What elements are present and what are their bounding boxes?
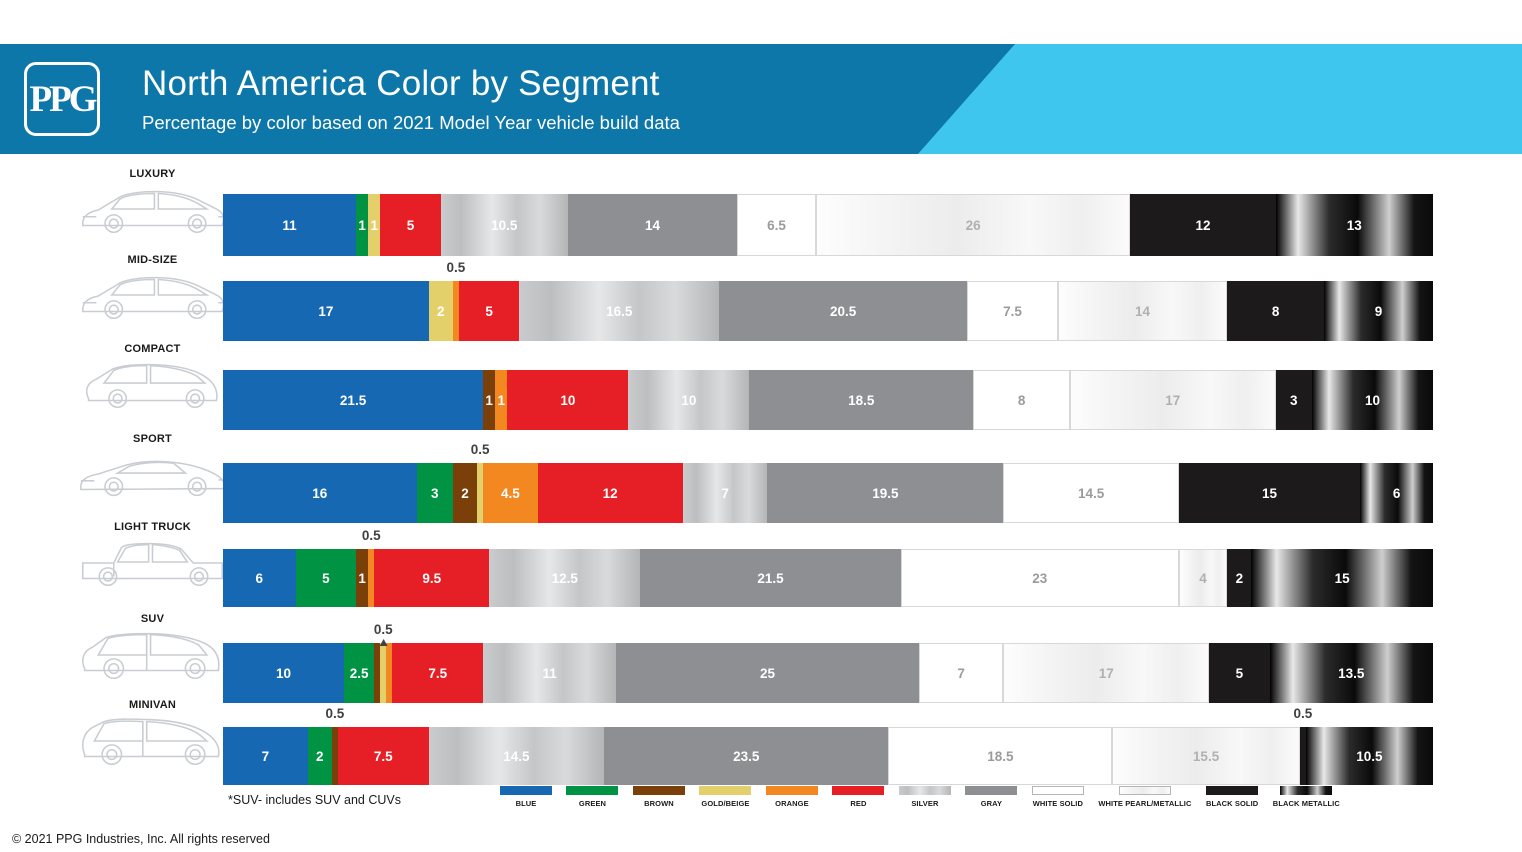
legend-label: ORANGE: [775, 799, 809, 808]
header-banner: PPG North America Color by Segment Perce…: [0, 44, 1522, 154]
bar-segment-silver[interactable]: 14.5: [429, 727, 604, 785]
legend-label: SILVER: [911, 799, 938, 808]
segment-value: 18.5: [848, 393, 874, 408]
legend-swatch-bmet: [1280, 786, 1332, 795]
segment-value: 3: [1290, 393, 1298, 408]
row-label-sport: SPORT: [60, 433, 245, 445]
bar-segment-blue[interactable]: 17: [223, 281, 429, 341]
segment-value: 5: [407, 218, 415, 233]
bar-segment-green[interactable]: 2.5: [344, 643, 374, 703]
segment-value: 15: [1335, 571, 1350, 586]
segment-value: 26: [966, 218, 981, 233]
ppg-logo-text: PPG: [30, 78, 95, 121]
bar-segment-white[interactable]: 7.5: [967, 281, 1058, 341]
bar-segment-blue[interactable]: 21.5: [223, 370, 483, 430]
segment-value: 8: [1272, 304, 1280, 319]
bar-segment-silver[interactable]: 12.5: [489, 549, 640, 607]
segment-value: 9: [1375, 304, 1383, 319]
bar-segment-white[interactable]: 18.5: [888, 727, 1112, 785]
bar-segment-red[interactable]: 7.5: [392, 643, 483, 703]
legend-swatch-orange: [766, 786, 818, 795]
segment-value: 5: [1236, 666, 1244, 681]
bar-segment-white[interactable]: 6.5: [737, 194, 816, 256]
segment-value: 2.5: [350, 666, 369, 681]
bar-segment-gray[interactable]: 25: [616, 643, 919, 703]
legend-item-bmet[interactable]: BLACK METALLIC: [1273, 786, 1340, 816]
bar-segment-silver[interactable]: 10: [628, 370, 749, 430]
stacked-bar: 1111510.5146.5261213: [223, 194, 1433, 256]
bar-segment-bsolid[interactable]: 2: [1227, 549, 1251, 607]
legend-label: WHITE PEARL/METALLIC: [1098, 799, 1191, 808]
segment-value: 16.5: [606, 304, 632, 319]
stacked-bar: 16320.54.512719.514.5156: [223, 463, 1433, 523]
segment-value: 1: [358, 218, 366, 233]
bar-segment-gray[interactable]: 18.5: [749, 370, 973, 430]
row-label-light-truck: LIGHT TRUCK: [60, 521, 245, 533]
legend-swatch-red: [832, 786, 884, 795]
page-subtitle: Percentage by color based on 2021 Model …: [142, 112, 680, 134]
bar-segment-pearl[interactable]: 15.5: [1112, 727, 1300, 785]
copyright-footnote: © 2021 PPG Industries, Inc. All rights r…: [12, 832, 270, 846]
bar-segment-silver[interactable]: 11: [483, 643, 616, 703]
bar-segment-white[interactable]: 7: [919, 643, 1004, 703]
bar-segment-brown[interactable]: 1: [483, 370, 495, 430]
bar-segment-pearl[interactable]: 4: [1179, 549, 1227, 607]
legend-item-blue[interactable]: BLUE: [500, 786, 552, 816]
legend-item-gray[interactable]: GRAY: [965, 786, 1017, 816]
bar-segment-gold[interactable]: 1: [368, 194, 380, 256]
segment-callout: 0.5: [471, 442, 490, 457]
legend-label: WHITE SOLID: [1033, 799, 1083, 808]
bar-segment-bmet[interactable]: 15: [1251, 549, 1433, 607]
legend-label: BLACK SOLID: [1206, 799, 1258, 808]
page-title: North America Color by Segment: [142, 64, 660, 104]
segment-value: 16: [312, 486, 327, 501]
legend-item-green[interactable]: GREEN: [566, 786, 618, 816]
segment-row: COMPACT21.511101018.5817310: [0, 343, 1522, 436]
bar-segment-gray[interactable]: 14: [568, 194, 737, 256]
stacked-bar: 1720.5516.520.57.51489: [223, 281, 1433, 341]
segment-value: 2: [437, 304, 445, 319]
bar-segment-red[interactable]: 12: [538, 463, 683, 523]
stacked-bar: 720.57.514.523.518.515.50.510.5: [223, 727, 1433, 785]
bar-segment-red[interactable]: 5: [380, 194, 441, 256]
legend-swatch-brown: [633, 786, 685, 795]
legend-label: BLUE: [516, 799, 537, 808]
bar-segment-bsolid[interactable]: 3: [1276, 370, 1312, 430]
segment-row: SUV102.50.57.51125717513.5: [0, 613, 1522, 709]
segment-value: 23.5: [733, 749, 759, 764]
segment-chart: LUXURY1111510.5146.5261213MID-SIZE1720.5…: [0, 154, 1522, 794]
bar-segment-blue[interactable]: 10: [223, 643, 344, 703]
color-legend: BLUEGREENBROWNGOLD/BEIGEORANGEREDSILVERG…: [500, 786, 1340, 816]
bar-segment-green[interactable]: 5: [296, 549, 357, 607]
suv-icon: [75, 629, 230, 681]
legend-item-white[interactable]: WHITE SOLID: [1032, 786, 1084, 816]
segment-value: 4.5: [501, 486, 520, 501]
segment-value: 10: [560, 393, 575, 408]
segment-value: 21.5: [757, 571, 783, 586]
bar-segment-red[interactable]: 10: [507, 370, 628, 430]
segment-value: 14: [1135, 304, 1150, 319]
segment-value: 18.5: [987, 749, 1013, 764]
segment-value: 3: [431, 486, 439, 501]
bar-segment-white[interactable]: 23: [901, 549, 1179, 607]
bar-segment-green[interactable]: 1: [356, 194, 368, 256]
legend-item-red[interactable]: RED: [832, 786, 884, 816]
segment-value: 7.5: [1003, 304, 1022, 319]
sedan-icon: [75, 270, 230, 322]
bar-segment-blue[interactable]: 16: [223, 463, 417, 523]
segment-value: 14.5: [1078, 486, 1104, 501]
bar-segment-bmet[interactable]: 13: [1276, 194, 1433, 256]
segment-value: 5: [322, 571, 330, 586]
bar-segment-red[interactable]: 5: [459, 281, 520, 341]
segment-row: MID-SIZE1720.5516.520.57.51489: [0, 254, 1522, 347]
bar-segment-brown[interactable]: 1: [356, 549, 368, 607]
bar-segment-pearl[interactable]: 14: [1058, 281, 1227, 341]
segment-value: 13.5: [1338, 666, 1364, 681]
segment-value: 20.5: [830, 304, 856, 319]
legend-label: RED: [850, 799, 866, 808]
stacked-bar: 102.50.57.51125717513.5: [223, 643, 1433, 703]
segment-value: 5: [485, 304, 493, 319]
stacked-bar: 21.511101018.5817310: [223, 370, 1433, 430]
legend-item-orange[interactable]: ORANGE: [766, 786, 818, 816]
bar-segment-bmet[interactable]: 6: [1360, 463, 1433, 523]
legend-label: BLACK METALLIC: [1273, 799, 1340, 808]
bar-segment-blue[interactable]: 6: [223, 549, 296, 607]
segment-value: 12: [1196, 218, 1211, 233]
segment-value: 2: [316, 749, 324, 764]
bar-segment-pearl[interactable]: 26: [816, 194, 1131, 256]
segment-value: 10: [1365, 393, 1380, 408]
bar-segment-orange[interactable]: 1: [495, 370, 507, 430]
segment-value: 1: [498, 393, 506, 408]
segment-value: 15.5: [1193, 749, 1219, 764]
segment-value: 17: [1165, 393, 1180, 408]
legend-label: BROWN: [644, 799, 674, 808]
legend-label: GREEN: [579, 799, 606, 808]
legend-swatch-silver: [899, 786, 951, 795]
segment-value: 6.5: [767, 218, 786, 233]
segment-row: LUXURY1111510.5146.5261213: [0, 168, 1522, 262]
bar-segment-bsolid[interactable]: 5: [1209, 643, 1270, 703]
bar-segment-bsolid[interactable]: 12: [1130, 194, 1275, 256]
segment-value: 1: [358, 571, 366, 586]
segment-value: 7: [262, 749, 270, 764]
segment-value: 10: [681, 393, 696, 408]
bar-segment-gray[interactable]: 23.5: [604, 727, 888, 785]
bar-segment-bmet[interactable]: 9: [1324, 281, 1433, 341]
bar-segment-green[interactable]: 2: [308, 727, 332, 785]
legend-swatch-bsolid: [1206, 786, 1258, 795]
bar-segment-bmet[interactable]: 13.5: [1270, 643, 1433, 703]
bar-segment-green[interactable]: 3: [417, 463, 453, 523]
bar-segment-bsolid[interactable]: 15: [1179, 463, 1361, 523]
bar-segment-white[interactable]: 8: [973, 370, 1070, 430]
segment-value: 14.5: [503, 749, 529, 764]
row-label-compact: COMPACT: [60, 343, 245, 355]
segment-row: LIGHT TRUCK6510.59.512.521.5234215: [0, 521, 1522, 613]
bar-segment-gold[interactable]: 2: [429, 281, 453, 341]
legend-label: GOLD/BEIGE: [701, 799, 749, 808]
segment-row: SPORT16320.54.512719.514.5156: [0, 433, 1522, 529]
segment-value: 7: [957, 666, 965, 681]
legend-swatch-blue: [500, 786, 552, 795]
segment-value: 10: [276, 666, 291, 681]
segment-value: 7.5: [428, 666, 447, 681]
pickup-icon: [75, 537, 230, 589]
segment-value: 6: [256, 571, 264, 586]
stacked-bar: 6510.59.512.521.5234215: [223, 549, 1433, 607]
sedan-icon: [75, 184, 230, 236]
segment-value: 1: [370, 218, 378, 233]
bar-segment-white[interactable]: 14.5: [1003, 463, 1178, 523]
bar-segment-gray[interactable]: 19.5: [767, 463, 1003, 523]
segment-value: 11: [282, 218, 296, 233]
segment-value: 13: [1347, 218, 1362, 233]
row-label-mid-size: MID-SIZE: [60, 254, 245, 266]
segment-value: 2: [461, 486, 469, 501]
row-label-luxury: LUXURY: [60, 168, 245, 180]
bar-segment-pearl[interactable]: 17: [1003, 643, 1209, 703]
segment-callout: 0.5: [447, 260, 466, 275]
segment-row: MINIVAN720.57.514.523.518.515.50.510.5: [0, 699, 1522, 791]
segment-value: 11: [543, 666, 557, 681]
legend-swatch-gray: [965, 786, 1017, 795]
legend-item-bsolid[interactable]: BLACK SOLID: [1206, 786, 1258, 816]
segment-value: 9.5: [422, 571, 441, 586]
segment-callout: 0.5: [1293, 706, 1312, 721]
segment-value: 25: [760, 666, 775, 681]
segment-value: 1: [485, 393, 493, 408]
segment-value: 6: [1393, 486, 1401, 501]
hatchback-icon: [75, 359, 230, 411]
row-label-suv: SUV: [60, 613, 245, 625]
row-label-minivan: MINIVAN: [60, 699, 245, 711]
legend-item-silver[interactable]: SILVER: [899, 786, 951, 816]
ppg-logo: PPG: [24, 62, 100, 136]
segment-value: 21.5: [340, 393, 366, 408]
bar-segment-silver[interactable]: 10.5: [441, 194, 568, 256]
sportscar-icon: [75, 449, 230, 501]
legend-label: GRAY: [981, 799, 1002, 808]
bar-segment-bmet[interactable]: 10: [1312, 370, 1433, 430]
legend-item-gold[interactable]: GOLD/BEIGE: [699, 786, 751, 816]
legend-item-brown[interactable]: BROWN: [633, 786, 685, 816]
segment-value: 4: [1199, 571, 1207, 586]
bar-segment-red[interactable]: 7.5: [338, 727, 429, 785]
legend-swatch-white: [1032, 786, 1084, 795]
bar-segment-blue[interactable]: 11: [223, 194, 356, 256]
bar-segment-pearl[interactable]: 17: [1070, 370, 1276, 430]
segment-value: 17: [1099, 666, 1114, 681]
legend-swatch-green: [566, 786, 618, 795]
segment-value: 14: [645, 218, 660, 233]
segment-callout: 0.5: [326, 706, 345, 721]
suv-footnote: *SUV- includes SUV and CUVs: [228, 793, 401, 807]
segment-callout: 0.5: [362, 528, 381, 543]
segment-value: 15: [1262, 486, 1277, 501]
minivan-icon: [75, 715, 230, 767]
segment-value: 7: [721, 486, 729, 501]
segment-value: 12.5: [552, 571, 578, 586]
segment-value: 19.5: [872, 486, 898, 501]
bar-segment-brown[interactable]: 2: [453, 463, 477, 523]
legend-swatch-pearl: [1119, 786, 1171, 795]
bar-segment-orange[interactable]: 4.5: [483, 463, 537, 523]
segment-value: 2: [1236, 571, 1244, 586]
bar-segment-bsolid[interactable]: 8: [1227, 281, 1324, 341]
bar-segment-gray[interactable]: 21.5: [640, 549, 900, 607]
segment-value: 10.5: [1356, 749, 1382, 764]
bar-segment-gray[interactable]: 20.5: [719, 281, 967, 341]
segment-value: 7.5: [374, 749, 393, 764]
legend-swatch-gold: [699, 786, 751, 795]
legend-item-pearl[interactable]: WHITE PEARL/METALLIC: [1098, 786, 1191, 816]
segment-value: 23: [1032, 571, 1047, 586]
bar-segment-silver[interactable]: 16.5: [519, 281, 719, 341]
bar-segment-blue[interactable]: 7: [223, 727, 308, 785]
bar-segment-bmet[interactable]: 10.5: [1306, 727, 1433, 785]
segment-value: 17: [318, 304, 333, 319]
segment-value: 8: [1018, 393, 1026, 408]
bar-segment-silver[interactable]: 7: [683, 463, 768, 523]
segment-value: 10.5: [491, 218, 517, 233]
bar-segment-red[interactable]: 9.5: [374, 549, 489, 607]
segment-callout: 0.5: [374, 622, 393, 637]
segment-value: 12: [603, 486, 618, 501]
